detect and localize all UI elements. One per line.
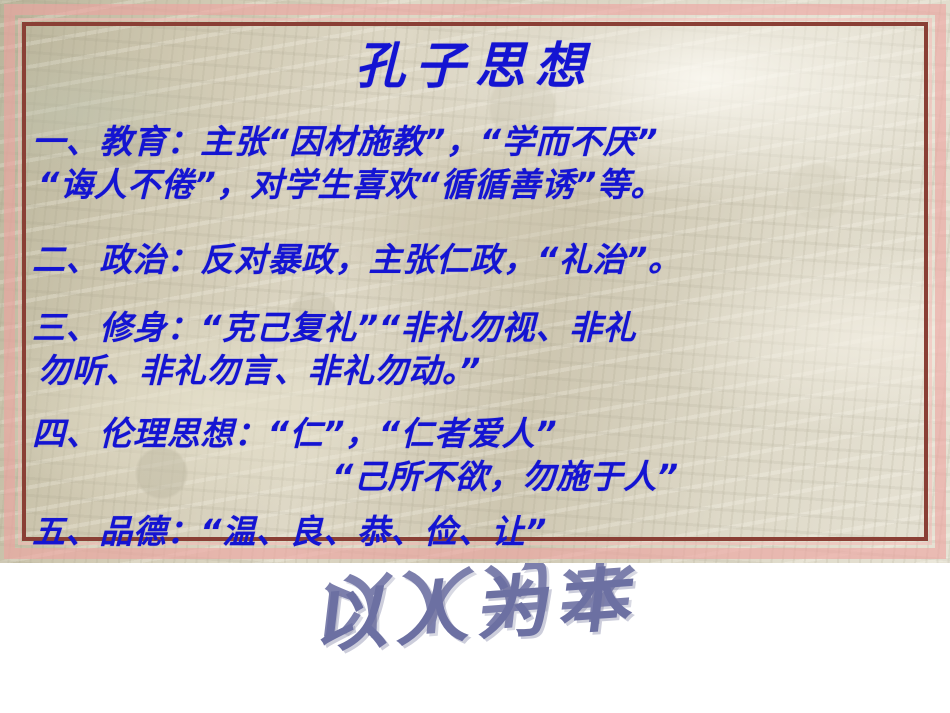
paragraph-line: 三、修身：“克己复礼”“非礼勿视、非礼 [32, 306, 922, 349]
wordart-banner: 以人为本 以人为本 [0, 563, 950, 713]
slide-content: 孔子思想 一、教育：主张“因材施教”，“学而不厌” “诲人不倦”，对学生喜欢“循… [28, 24, 922, 539]
paragraph-line: 二、政治：反对暴政，主张仁政，“礼治”。 [32, 238, 922, 281]
paragraph-line: 五、品德：“温、良、恭、俭、让” [32, 510, 922, 553]
page-title: 孔子思想 [28, 36, 922, 96]
paragraph-item-4-ethics: 四、伦理思想：“仁”，“仁者爱人” “己所不欲，勿施于人” [32, 412, 922, 498]
paragraph-line: “诲人不倦”，对学生喜欢“循循善诱”等。 [32, 163, 922, 206]
paragraph-item-3-self-cultivation: 三、修身：“克己复礼”“非礼勿视、非礼 勿听、非礼勿言、非礼勿动。” [32, 306, 922, 392]
paragraph-item-1-education: 一、教育：主张“因材施教”，“学而不厌” “诲人不倦”，对学生喜欢“循循善诱”等… [32, 120, 922, 206]
slide-canvas: 孔子思想 一、教育：主张“因材施教”，“学而不厌” “诲人不倦”，对学生喜欢“循… [0, 0, 950, 713]
paragraph-line: 勿听、非礼勿言、非礼勿动。” [32, 349, 922, 392]
parchment-panel: 孔子思想 一、教育：主张“因材施教”，“学而不厌” “诲人不倦”，对学生喜欢“循… [0, 0, 950, 563]
paragraph-item-2-politics: 二、政治：反对暴政，主张仁政，“礼治”。 [32, 238, 922, 281]
wordart-stage: 以人为本 以人为本 [95, 569, 855, 709]
paragraph-line: “己所不欲，勿施于人” [32, 455, 922, 498]
paragraph-line: 四、伦理思想：“仁”，“仁者爱人” [32, 412, 922, 455]
paragraph-line: 一、教育：主张“因材施教”，“学而不厌” [32, 120, 922, 163]
paragraph-item-5-virtue: 五、品德：“温、良、恭、俭、让” [32, 510, 922, 553]
